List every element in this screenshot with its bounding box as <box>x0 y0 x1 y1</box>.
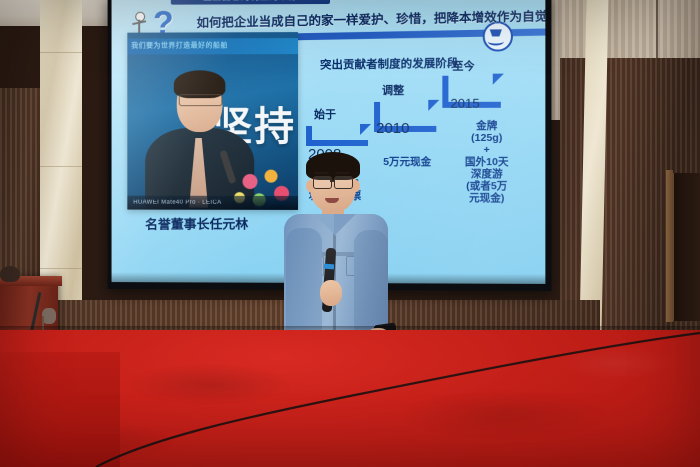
presenter-glasses-left <box>313 176 332 189</box>
photo-person-glasses <box>179 94 223 106</box>
timeline-detail-3: 金牌 (125g) + 国外10天 深度游 (或者5万 元现金) <box>452 120 521 205</box>
photo-banner-text: 我们要为世界打造最好的船舶 <box>127 38 298 54</box>
timeline-stage-label-3: 至今 <box>452 58 474 74</box>
side-door[interactable] <box>672 173 700 321</box>
timeline-year-3: 2015 <box>450 96 479 111</box>
presenter-glasses-right <box>334 176 353 189</box>
previous-slide-fragment: 企业自己的利益的来源 <box>171 0 330 5</box>
timeline-stage-label-2: 调整 <box>382 82 404 98</box>
photo-banner: 我们要为世界打造最好的船舶 <box>127 38 298 54</box>
conference-room-scene: 企业自己的利益的来源 ? 如何把企业当成自己的家一样爱护、珍惜，把降本增效作为自… <box>0 0 700 467</box>
previous-slide-fragment-text: 企业自己的利益的来源 <box>171 0 330 5</box>
microphone-band <box>324 264 334 270</box>
timeline-stage-label-1: 始于 <box>314 106 336 122</box>
photo-caption: 名誉董事长任元林 <box>145 213 248 232</box>
timeline-year-2: 2010 <box>376 120 409 137</box>
red-carpet-foreground <box>0 352 120 467</box>
person-behind-podium <box>0 266 20 282</box>
presenter-ear-right <box>352 180 360 192</box>
presenter-glasses-bridge <box>330 180 335 182</box>
presenter-hand-left <box>320 280 342 306</box>
